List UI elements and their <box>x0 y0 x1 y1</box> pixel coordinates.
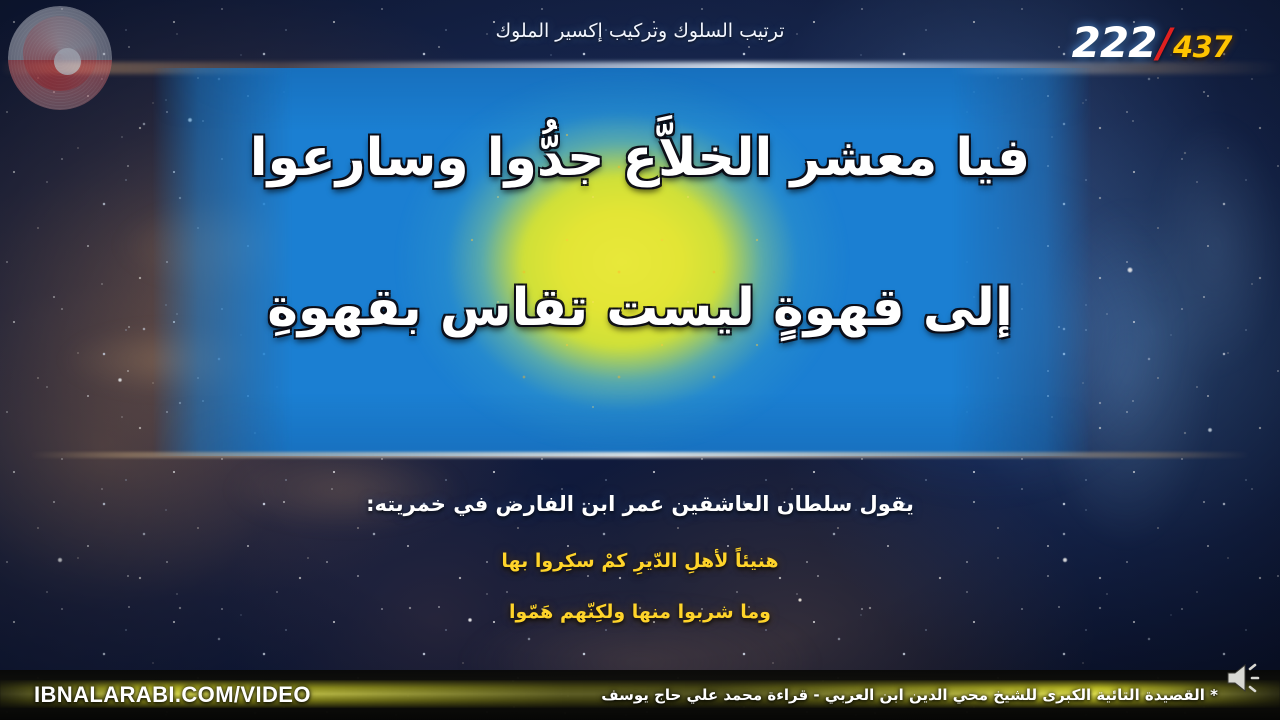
verse-line-2: إلى قهوةٍ ليست تقاس بقهوةِ <box>0 282 1280 334</box>
speaker-volume-icon[interactable] <box>1224 660 1266 696</box>
bottom-bar: IBNALARABI.COM/VIDEO * القصيدة التائية ا… <box>0 670 1280 720</box>
video-slide-stage: ترتيب السلوك وتركيب إكسير الملوك 222 / 4… <box>0 0 1280 720</box>
verse-panel-shading <box>152 68 1092 456</box>
page-counter: 222 / 437 <box>1072 18 1232 67</box>
panel-divider <box>30 452 1250 458</box>
commentary-intro: يقول سلطان العاشقين عمر ابن الفارض في خم… <box>0 492 1280 516</box>
page-counter-total: 437 <box>1173 30 1232 64</box>
page-counter-current: 222 <box>1072 18 1157 67</box>
quote-line-2: وما شربوا منها ولكِنّهم هَمّوا <box>0 601 1280 623</box>
credit-text: * القصيدة التائية الكبرى للشيخ محي الدين… <box>601 686 1218 704</box>
verse-line-1: فيا معشر الخلاَّع جدُّوا وسارعوا <box>0 132 1280 184</box>
website-url[interactable]: IBNALARABI.COM/VIDEO <box>34 682 311 708</box>
verse-panel <box>152 68 1092 456</box>
page-counter-separator: / <box>1157 21 1172 67</box>
quote-line-1: هنيئاً لأهلِ الدّيرِ كمْ سكِروا بها <box>0 550 1280 572</box>
